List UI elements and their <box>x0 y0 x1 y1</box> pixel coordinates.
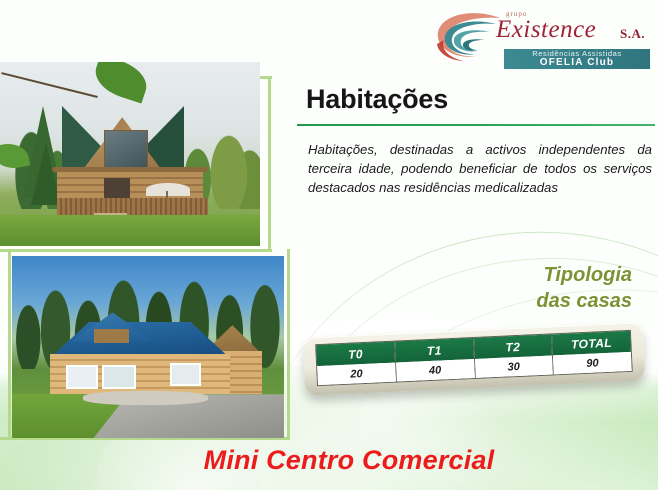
tipologia-table-3d: T0 20 T1 40 T2 30 TOTAL 90 <box>303 322 645 395</box>
body-paragraph: Habitações, destinadas a activos indepen… <box>308 140 652 197</box>
bottom-headline: Mini Centro Comercial <box>0 438 658 482</box>
table-cell-t2: 30 <box>474 355 553 378</box>
photo1-ridge-beam <box>52 167 208 172</box>
logo-suffix-text: S.A. <box>620 26 645 42</box>
photo2-gravel-patch <box>83 391 208 406</box>
page-title: Habitações <box>306 84 448 115</box>
photo2-window-1 <box>66 365 97 389</box>
photo-frame-line-left-lower <box>8 249 11 439</box>
table-cell-t1: 40 <box>396 359 475 382</box>
logo-banner-line1: Residências Assistidas <box>532 50 622 58</box>
photo-frame-line-right-lower <box>287 249 290 439</box>
table-column-total: TOTAL 90 <box>552 331 631 374</box>
tipologia-table-wrapper: T0 20 T1 40 T2 30 TOTAL 90 <box>300 316 652 402</box>
logo-banner: Residências Assistidas OFELIA Club <box>504 49 650 69</box>
table-cell-total: 90 <box>553 352 632 375</box>
photo1-deck-railing <box>57 198 208 215</box>
slide-root: grupo Existence S.A. Residências Assisti… <box>0 0 658 490</box>
title-underline-rule <box>297 124 655 126</box>
photo-frame-line-right-upper <box>268 76 271 251</box>
table-column-t1: T1 40 <box>395 338 475 382</box>
photo-frame-line-middle <box>0 249 272 252</box>
photo2-window-2 <box>102 365 136 389</box>
photo-cabin-blue-roof <box>12 256 284 438</box>
table-column-t0: T0 20 <box>316 342 396 386</box>
tipologia-label: Tipologia das casas <box>422 262 632 314</box>
photo-cabin-aframe <box>0 62 260 246</box>
photo1-lawn <box>0 215 260 246</box>
table-cell-t0: 20 <box>317 363 396 386</box>
company-logo: grupo Existence S.A. Residências Assisti… <box>434 4 654 70</box>
photo2-gable-window <box>94 329 129 344</box>
tipologia-line-1: Tipologia <box>422 262 632 288</box>
logo-banner-line2: OFELIA Club <box>540 58 615 68</box>
photo2-window-3 <box>170 363 201 385</box>
tipologia-line-2: das casas <box>422 288 632 314</box>
table-column-t2: T2 30 <box>474 334 554 378</box>
logo-script-text: Existence <box>496 16 596 44</box>
